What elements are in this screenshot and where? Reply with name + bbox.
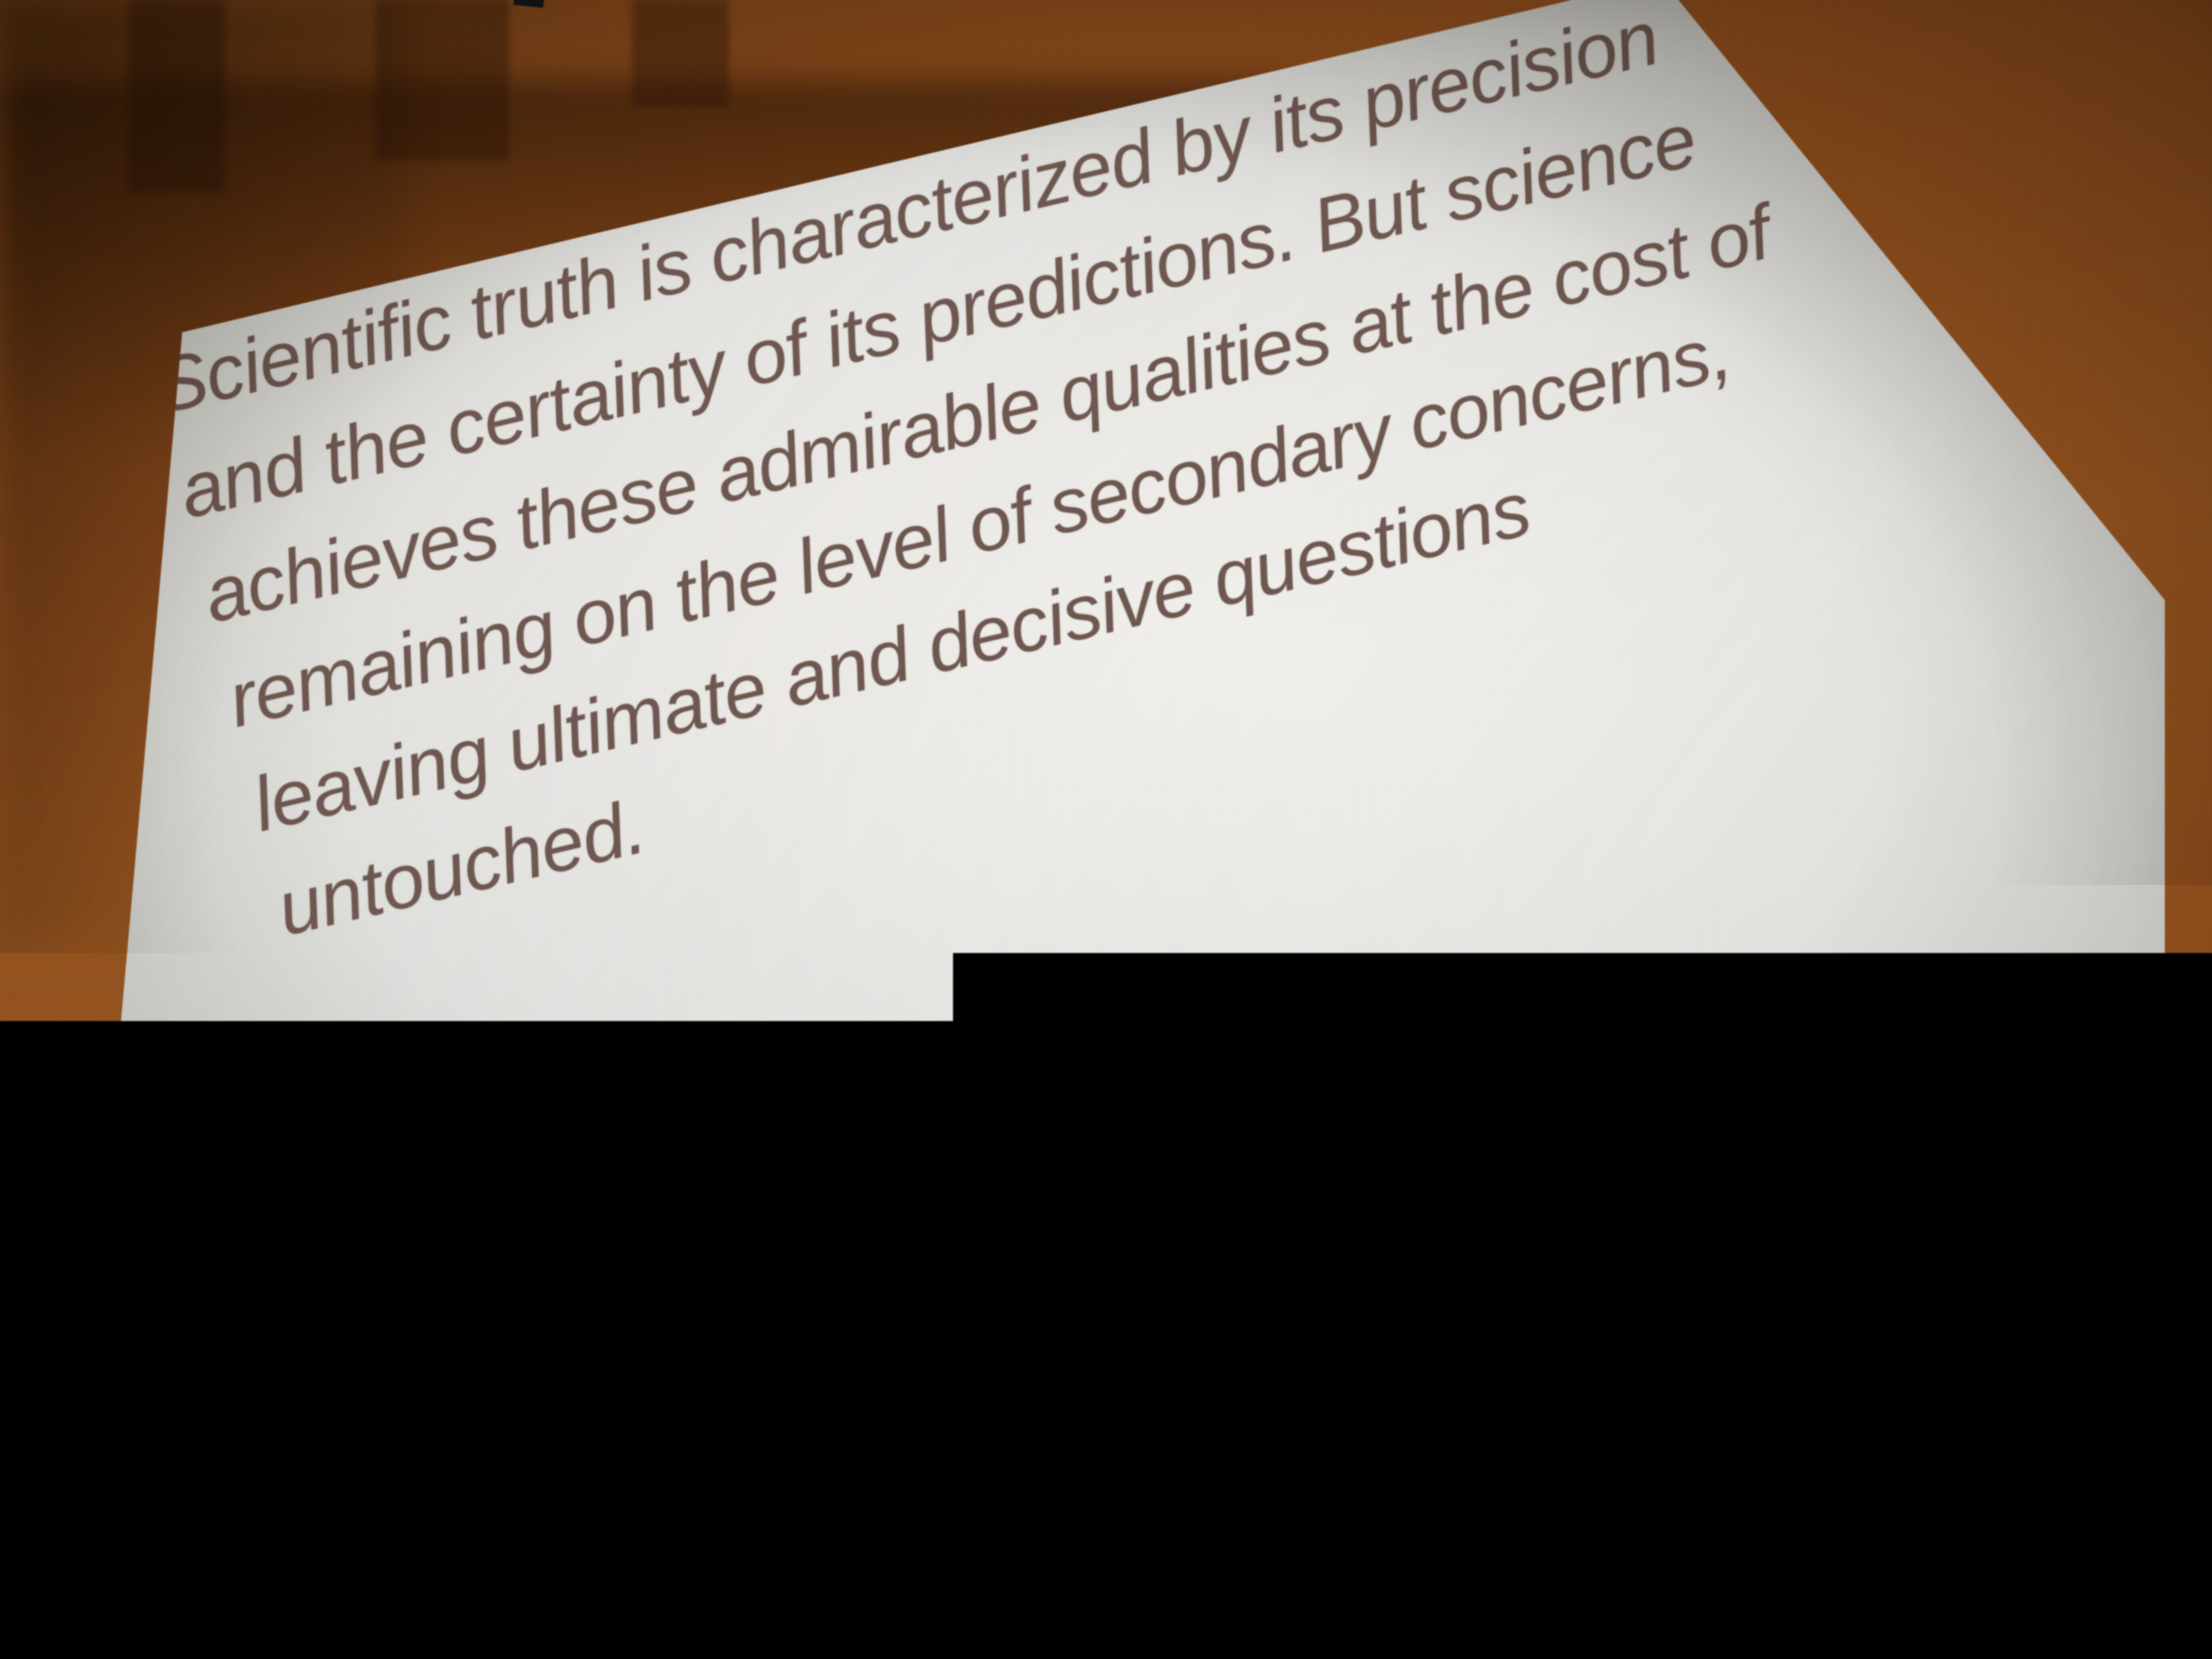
shadow-finger-2	[994, 1250, 1030, 1333]
speaker-finger-2	[1653, 1290, 1693, 1386]
laptop-badge-label	[1063, 1377, 1135, 1433]
podium-base	[707, 1602, 1725, 1659]
photo-scene: José Ortega y Gasset (1883-1955) Scienti…	[0, 0, 2212, 1659]
speaker-finger-3	[1615, 1304, 1654, 1394]
